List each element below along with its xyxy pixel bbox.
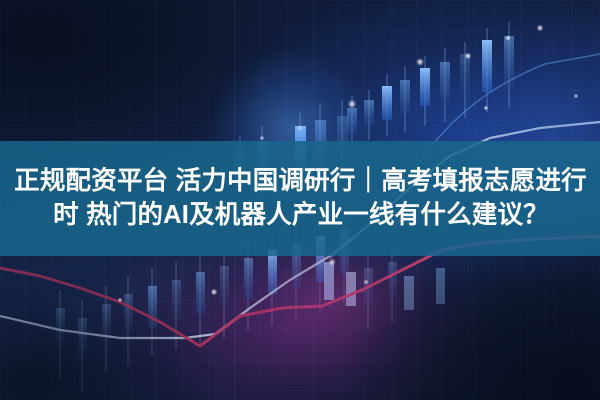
headline-line-1: 正规配资平台 活力中国调研行｜高考填报志愿进行 xyxy=(13,165,587,199)
headline-line-2: 时 热门的AI及机器人产业一线有什么建议？ xyxy=(51,199,549,233)
banner-root: 正规配资平台 活力中国调研行｜高考填报志愿进行 时 热门的AI及机器人产业一线有… xyxy=(0,0,600,400)
headline-band: 正规配资平台 活力中国调研行｜高考填报志愿进行 时 热门的AI及机器人产业一线有… xyxy=(0,141,600,256)
